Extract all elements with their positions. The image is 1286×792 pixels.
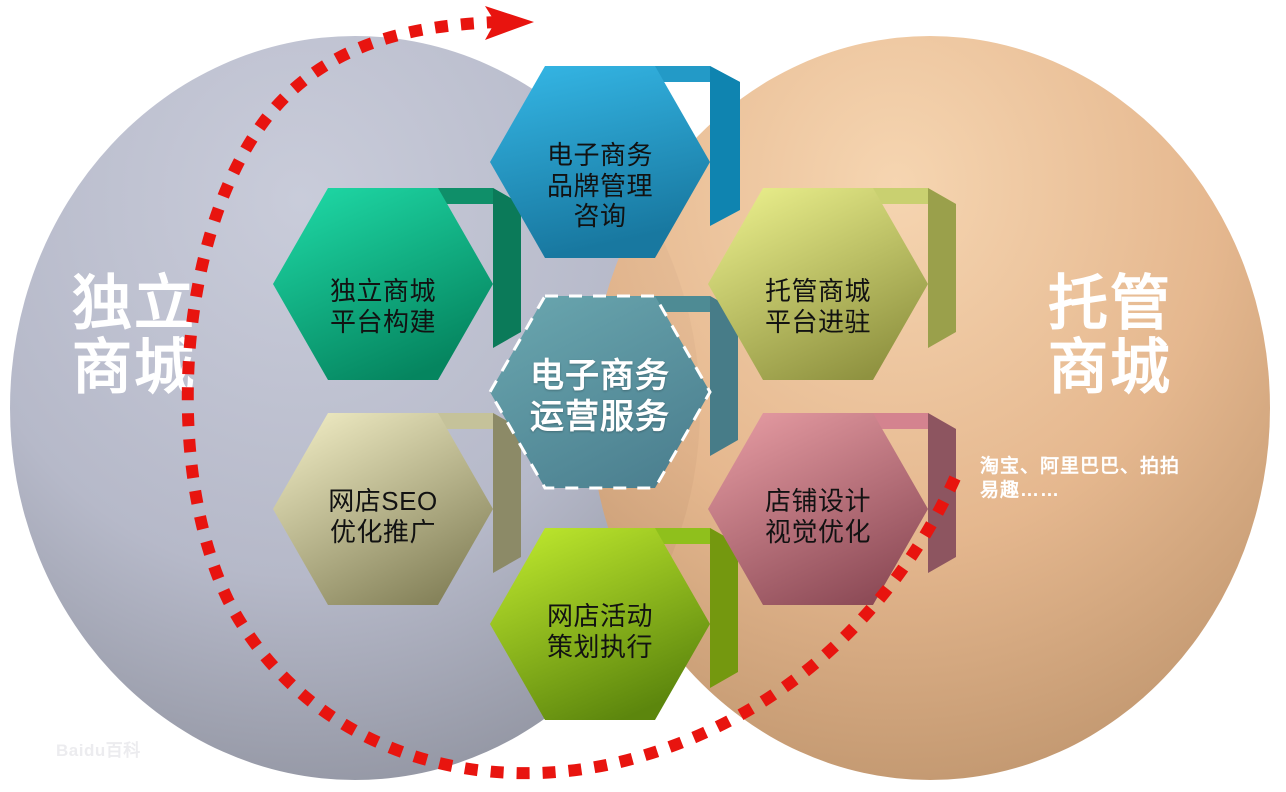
diagram-canvas: 独立 商城 托管 商城 淘宝、阿里巴巴、拍拍 易趣…… xyxy=(0,0,1286,792)
watermark: Baidu百科 xyxy=(56,736,141,761)
dotted-flow-arrow-path xyxy=(188,22,955,773)
dotted-arrow-layer xyxy=(0,0,1286,792)
